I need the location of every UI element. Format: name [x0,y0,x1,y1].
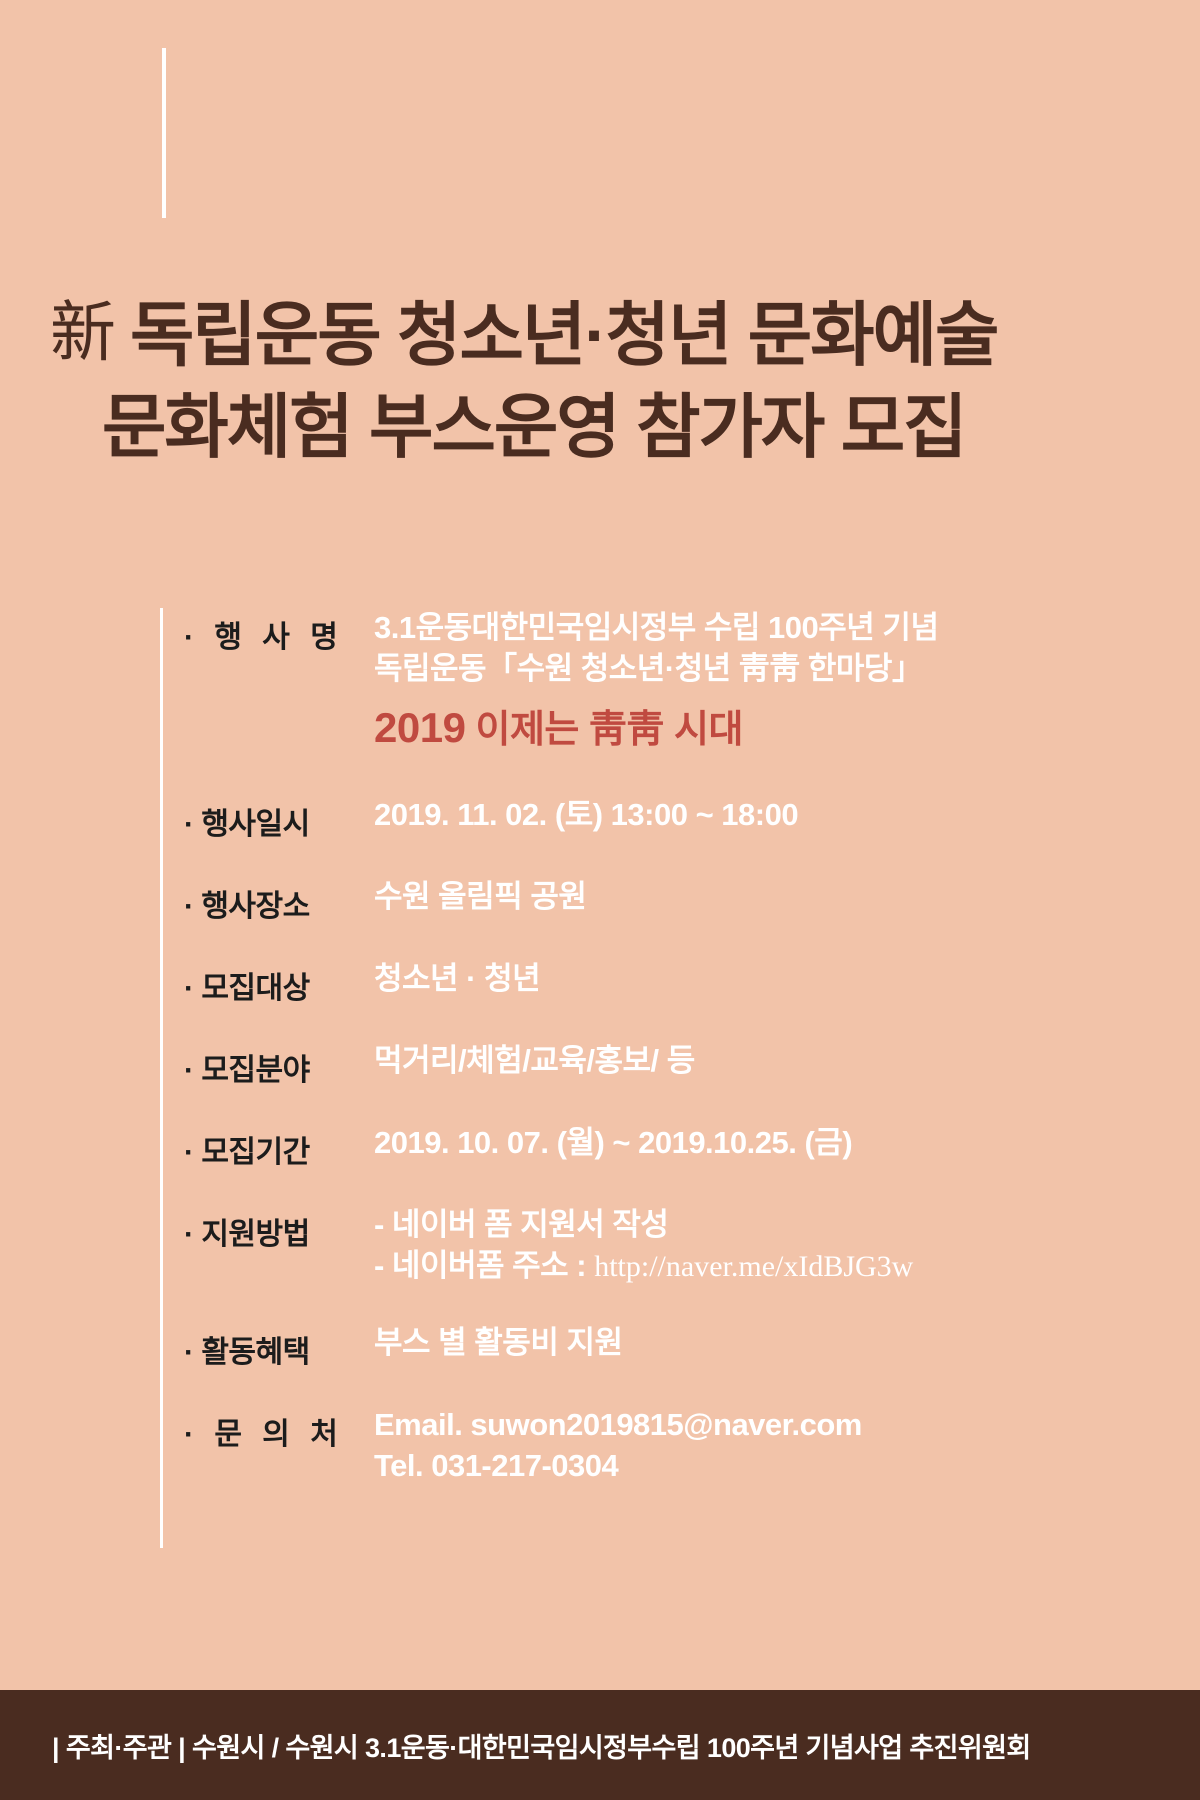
detail-row-datetime: · 행사일시 2019. 11. 02. (토) 13:00 ~ 18:00 [184,795,1144,843]
event-name-line-1: 3.1운동대한민국임시정부 수립 100주년 기념 [374,608,1144,649]
period-text: 2019. 10. 07. (월) ~ 2019.10.25. (금) [374,1123,1144,1164]
apply-method-line-2: - 네이버폼 주소 : http://naver.me/xIdBJG3w [374,1246,1144,1287]
detail-value-venue: 수원 올림픽 공원 [374,877,1144,918]
detail-row-event-name: · 행 사 명 3.1운동대한민국임시정부 수립 100주년 기념 독립운동「수… [184,608,1144,755]
top-divider-line [162,48,166,218]
page-title: 新 독립운동 청소년·청년 문화예술 문화체험 부스운영 참가자 모집 [50,300,1160,462]
detail-label-datetime: · 행사일시 [184,795,374,843]
detail-row-apply-method: · 지원방법 - 네이버 폼 지원서 작성 - 네이버폼 주소 : http:/… [184,1205,1144,1287]
detail-label-event-name: · 행 사 명 [184,608,374,656]
apply-url-prefix: - 네이버폼 주소 : [374,1248,594,1283]
body-divider-line [160,608,163,1548]
detail-value-period: 2019. 10. 07. (월) ~ 2019.10.25. (금) [374,1123,1144,1164]
detail-row-categories: · 모집분야 먹거리/체험/교육/홍보/ 등 [184,1041,1144,1089]
detail-value-event-name: 3.1운동대한민국임시정부 수립 100주년 기념 독립운동「수원 청소년·청년… [374,608,1144,755]
headline-prefix-sin: 新 [50,300,116,370]
poster-canvas: 新 독립운동 청소년·청년 문화예술 문화체험 부스운영 참가자 모집 · 행 … [0,0,1200,1800]
detail-value-benefit: 부스 별 활동비 지원 [374,1323,1144,1364]
footer-organizer-text: | 주최·주관 | 수원시 / 수원시 3.1운동·대한민국임시정부수립 100… [0,1726,1031,1765]
detail-row-period: · 모집기간 2019. 10. 07. (월) ~ 2019.10.25. (… [184,1123,1144,1171]
detail-label-contact: · 문 의 처 [184,1405,374,1453]
detail-label-categories: · 모집분야 [184,1041,374,1089]
event-name-line-2: 독립운동「수원 청소년·청년 靑靑 한마당」 [374,649,1144,690]
headline-line-2: 문화체험 부스운영 참가자 모집 [50,392,1160,462]
headline-line-1: 新 독립운동 청소년·청년 문화예술 [50,300,1160,370]
contact-phone[interactable]: Tel. 031-217-0304 [374,1446,1144,1487]
detail-label-benefit: · 활동혜택 [184,1323,374,1371]
details-list: · 행 사 명 3.1운동대한민국임시정부 수립 100주년 기념 독립운동「수… [184,608,1144,1521]
detail-value-contact: Email. suwon2019815@naver.com Tel. 031-2… [374,1405,1144,1487]
footer-bar: | 주최·주관 | 수원시 / 수원시 3.1운동·대한민국임시정부수립 100… [0,1690,1200,1800]
detail-label-venue: · 행사장소 [184,877,374,925]
detail-label-apply-method: · 지원방법 [184,1205,374,1253]
benefit-text: 부스 별 활동비 지원 [374,1323,1144,1364]
categories-text: 먹거리/체험/교육/홍보/ 등 [374,1041,1144,1082]
event-slogan: 2019 이제는 靑靑 시대 [374,700,1144,755]
detail-label-target: · 모집대상 [184,959,374,1007]
apply-url-link[interactable]: http://naver.me/xIdBJG3w [594,1250,913,1283]
venue-text: 수원 올림픽 공원 [374,877,1144,918]
detail-row-venue: · 행사장소 수원 올림픽 공원 [184,877,1144,925]
detail-row-contact: · 문 의 처 Email. suwon2019815@naver.com Te… [184,1405,1144,1487]
detail-row-target: · 모집대상 청소년 · 청년 [184,959,1144,1007]
headline-text-2: 문화체험 부스운영 참가자 모집 [102,392,966,462]
detail-row-benefit: · 활동혜택 부스 별 활동비 지원 [184,1323,1144,1371]
apply-method-line-1: - 네이버 폼 지원서 작성 [374,1205,1144,1246]
event-slogan-rest: 이제는 靑靑 시대 [465,709,742,751]
detail-value-apply-method: - 네이버 폼 지원서 작성 - 네이버폼 주소 : http://naver.… [374,1205,1144,1287]
event-slogan-year: 2019 [374,704,465,751]
detail-value-categories: 먹거리/체험/교육/홍보/ 등 [374,1041,1144,1082]
detail-label-period: · 모집기간 [184,1123,374,1171]
contact-email[interactable]: Email. suwon2019815@naver.com [374,1405,1144,1446]
target-text: 청소년 · 청년 [374,959,1144,1000]
headline-text-1: 독립운동 청소년·청년 문화예술 [130,300,997,370]
datetime-text: 2019. 11. 02. (토) 13:00 ~ 18:00 [374,795,1144,836]
detail-value-datetime: 2019. 11. 02. (토) 13:00 ~ 18:00 [374,795,1144,836]
detail-value-target: 청소년 · 청년 [374,959,1144,1000]
